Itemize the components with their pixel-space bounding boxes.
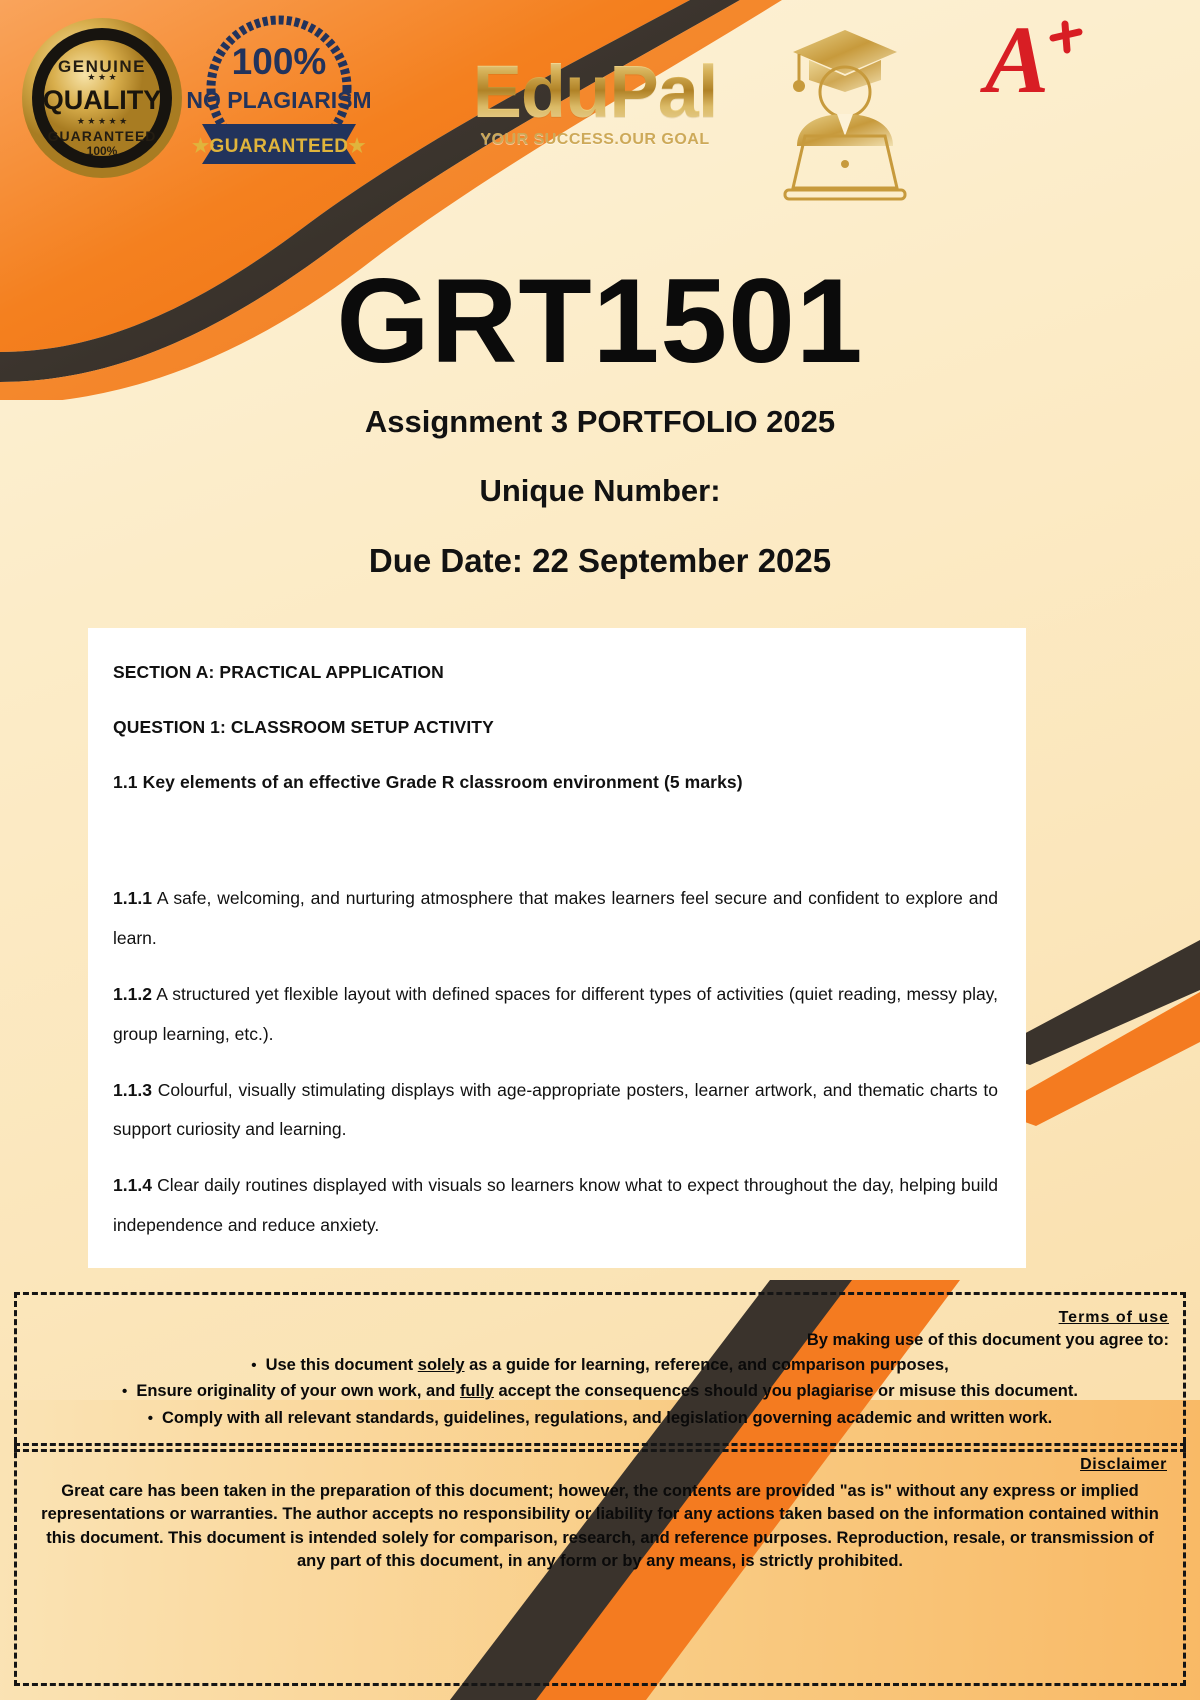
sub-question-heading: 1.1 Key elements of an effective Grade R… bbox=[113, 772, 998, 793]
terms-item-post: as a guide for learning, reference, and … bbox=[465, 1356, 949, 1374]
brand-name: EduPal bbox=[430, 55, 760, 129]
badge-line-percent: 100% bbox=[87, 144, 118, 158]
terms-of-use-title: Terms of use bbox=[31, 1309, 1169, 1327]
terms-list-item: •Comply with all relevant standards, gui… bbox=[31, 1408, 1169, 1429]
badge-line-guaranteed-ribbon: ★GUARANTEED★ bbox=[192, 136, 366, 157]
terms-item-pre: Use this document bbox=[266, 1356, 418, 1374]
question-heading: QUESTION 1: CLASSROOM SETUP ACTIVITY bbox=[113, 717, 998, 738]
badge-line-quality: QUALITY bbox=[43, 85, 162, 115]
brand-logo: EduPal YOUR SUCCESS.OUR GOAL bbox=[430, 55, 760, 149]
terms-list-item: •Ensure originality of your own work, an… bbox=[31, 1381, 1169, 1402]
graduate-laptop-icon bbox=[775, 18, 915, 208]
due-date: Due Date: 22 September 2025 bbox=[0, 542, 1200, 580]
brand-tagline: YOUR SUCCESS.OUR GOAL bbox=[430, 131, 760, 149]
terms-item-pre: Comply with all relevant standards, guid… bbox=[162, 1409, 1052, 1427]
answer-item-text: A structured yet flexible layout with de… bbox=[113, 984, 998, 1044]
a-plus-grade-mark: A bbox=[975, 10, 1095, 120]
title-block: GRT1501 Assignment 3 PORTFOLIO 2025 Uniq… bbox=[0, 258, 1200, 580]
header-banner: GENUINE ★ ★ ★ QUALITY ★ ★ ★ ★ ★ GUARANTE… bbox=[0, 0, 1200, 235]
svg-text:★ ★ ★ ★ ★: ★ ★ ★ ★ ★ bbox=[77, 116, 127, 126]
disclaimer-body: Great care has been taken in the prepara… bbox=[33, 1480, 1167, 1574]
svg-text:★ ★ ★: ★ ★ ★ bbox=[87, 72, 116, 82]
no-plagiarism-badge: 100% NO PLAGIARISM ★GUARANTEED★ bbox=[184, 12, 370, 182]
terms-item-emph: fully bbox=[460, 1382, 494, 1400]
answer-item-text: Colourful, visually stimulating displays… bbox=[113, 1080, 998, 1140]
content-panel: SECTION A: PRACTICAL APPLICATION QUESTIO… bbox=[88, 628, 1026, 1268]
unique-number-label: Unique Number: bbox=[0, 473, 1200, 509]
badge-line-guaranteed: GUARANTEED bbox=[48, 128, 157, 144]
genuine-quality-badge: GENUINE ★ ★ ★ QUALITY ★ ★ ★ ★ ★ GUARANTE… bbox=[18, 14, 186, 182]
answer-item-text: Clear daily routines displayed with visu… bbox=[113, 1175, 998, 1235]
answer-item-text: A safe, welcoming, and nurturing atmosph… bbox=[113, 888, 998, 948]
terms-of-use-list: •Use this document solely as a guide for… bbox=[31, 1355, 1169, 1429]
disclaimer-box: Disclaimer Great care has been taken in … bbox=[14, 1443, 1186, 1686]
answer-item: 1.1.1 A safe, welcoming, and nurturing a… bbox=[113, 879, 998, 959]
terms-item-emph: solely bbox=[418, 1356, 465, 1374]
section-heading: SECTION A: PRACTICAL APPLICATION bbox=[113, 662, 998, 683]
bullet-icon: • bbox=[148, 1409, 153, 1429]
terms-list-item: •Use this document solely as a guide for… bbox=[31, 1355, 1169, 1376]
answer-item-number: 1.1.2 bbox=[113, 984, 152, 1004]
answer-item-number: 1.1.4 bbox=[113, 1175, 152, 1195]
answer-item-number: 1.1.1 bbox=[113, 888, 152, 908]
bullet-icon: • bbox=[122, 1382, 127, 1402]
answer-item: 1.1.2 A structured yet flexible layout w… bbox=[113, 975, 998, 1055]
assignment-title: Assignment 3 PORTFOLIO 2025 bbox=[0, 404, 1200, 440]
document-page: GENUINE ★ ★ ★ QUALITY ★ ★ ★ ★ ★ GUARANTE… bbox=[0, 0, 1200, 1700]
terms-of-use-intro: By making use of this document you agree… bbox=[31, 1331, 1169, 1350]
disclaimer-title: Disclaimer bbox=[33, 1456, 1167, 1474]
course-code: GRT1501 bbox=[0, 258, 1200, 384]
terms-item-pre: Ensure originality of your own work, and bbox=[136, 1382, 460, 1400]
badge-line-100: 100% bbox=[232, 41, 327, 82]
answer-item-number: 1.1.3 bbox=[113, 1080, 152, 1100]
bullet-icon: • bbox=[251, 1356, 256, 1376]
terms-item-post: accept the consequences should you plagi… bbox=[494, 1382, 1078, 1400]
answer-item: 1.1.4 Clear daily routines displayed wit… bbox=[113, 1166, 998, 1246]
terms-of-use-box: Terms of use By making use of this docum… bbox=[14, 1292, 1186, 1452]
answer-item: 1.1.3 Colourful, visually stimulating di… bbox=[113, 1071, 998, 1151]
a-plus-text: A bbox=[980, 10, 1049, 113]
badge-line-no-plagiarism: NO PLAGIARISM bbox=[186, 87, 370, 113]
